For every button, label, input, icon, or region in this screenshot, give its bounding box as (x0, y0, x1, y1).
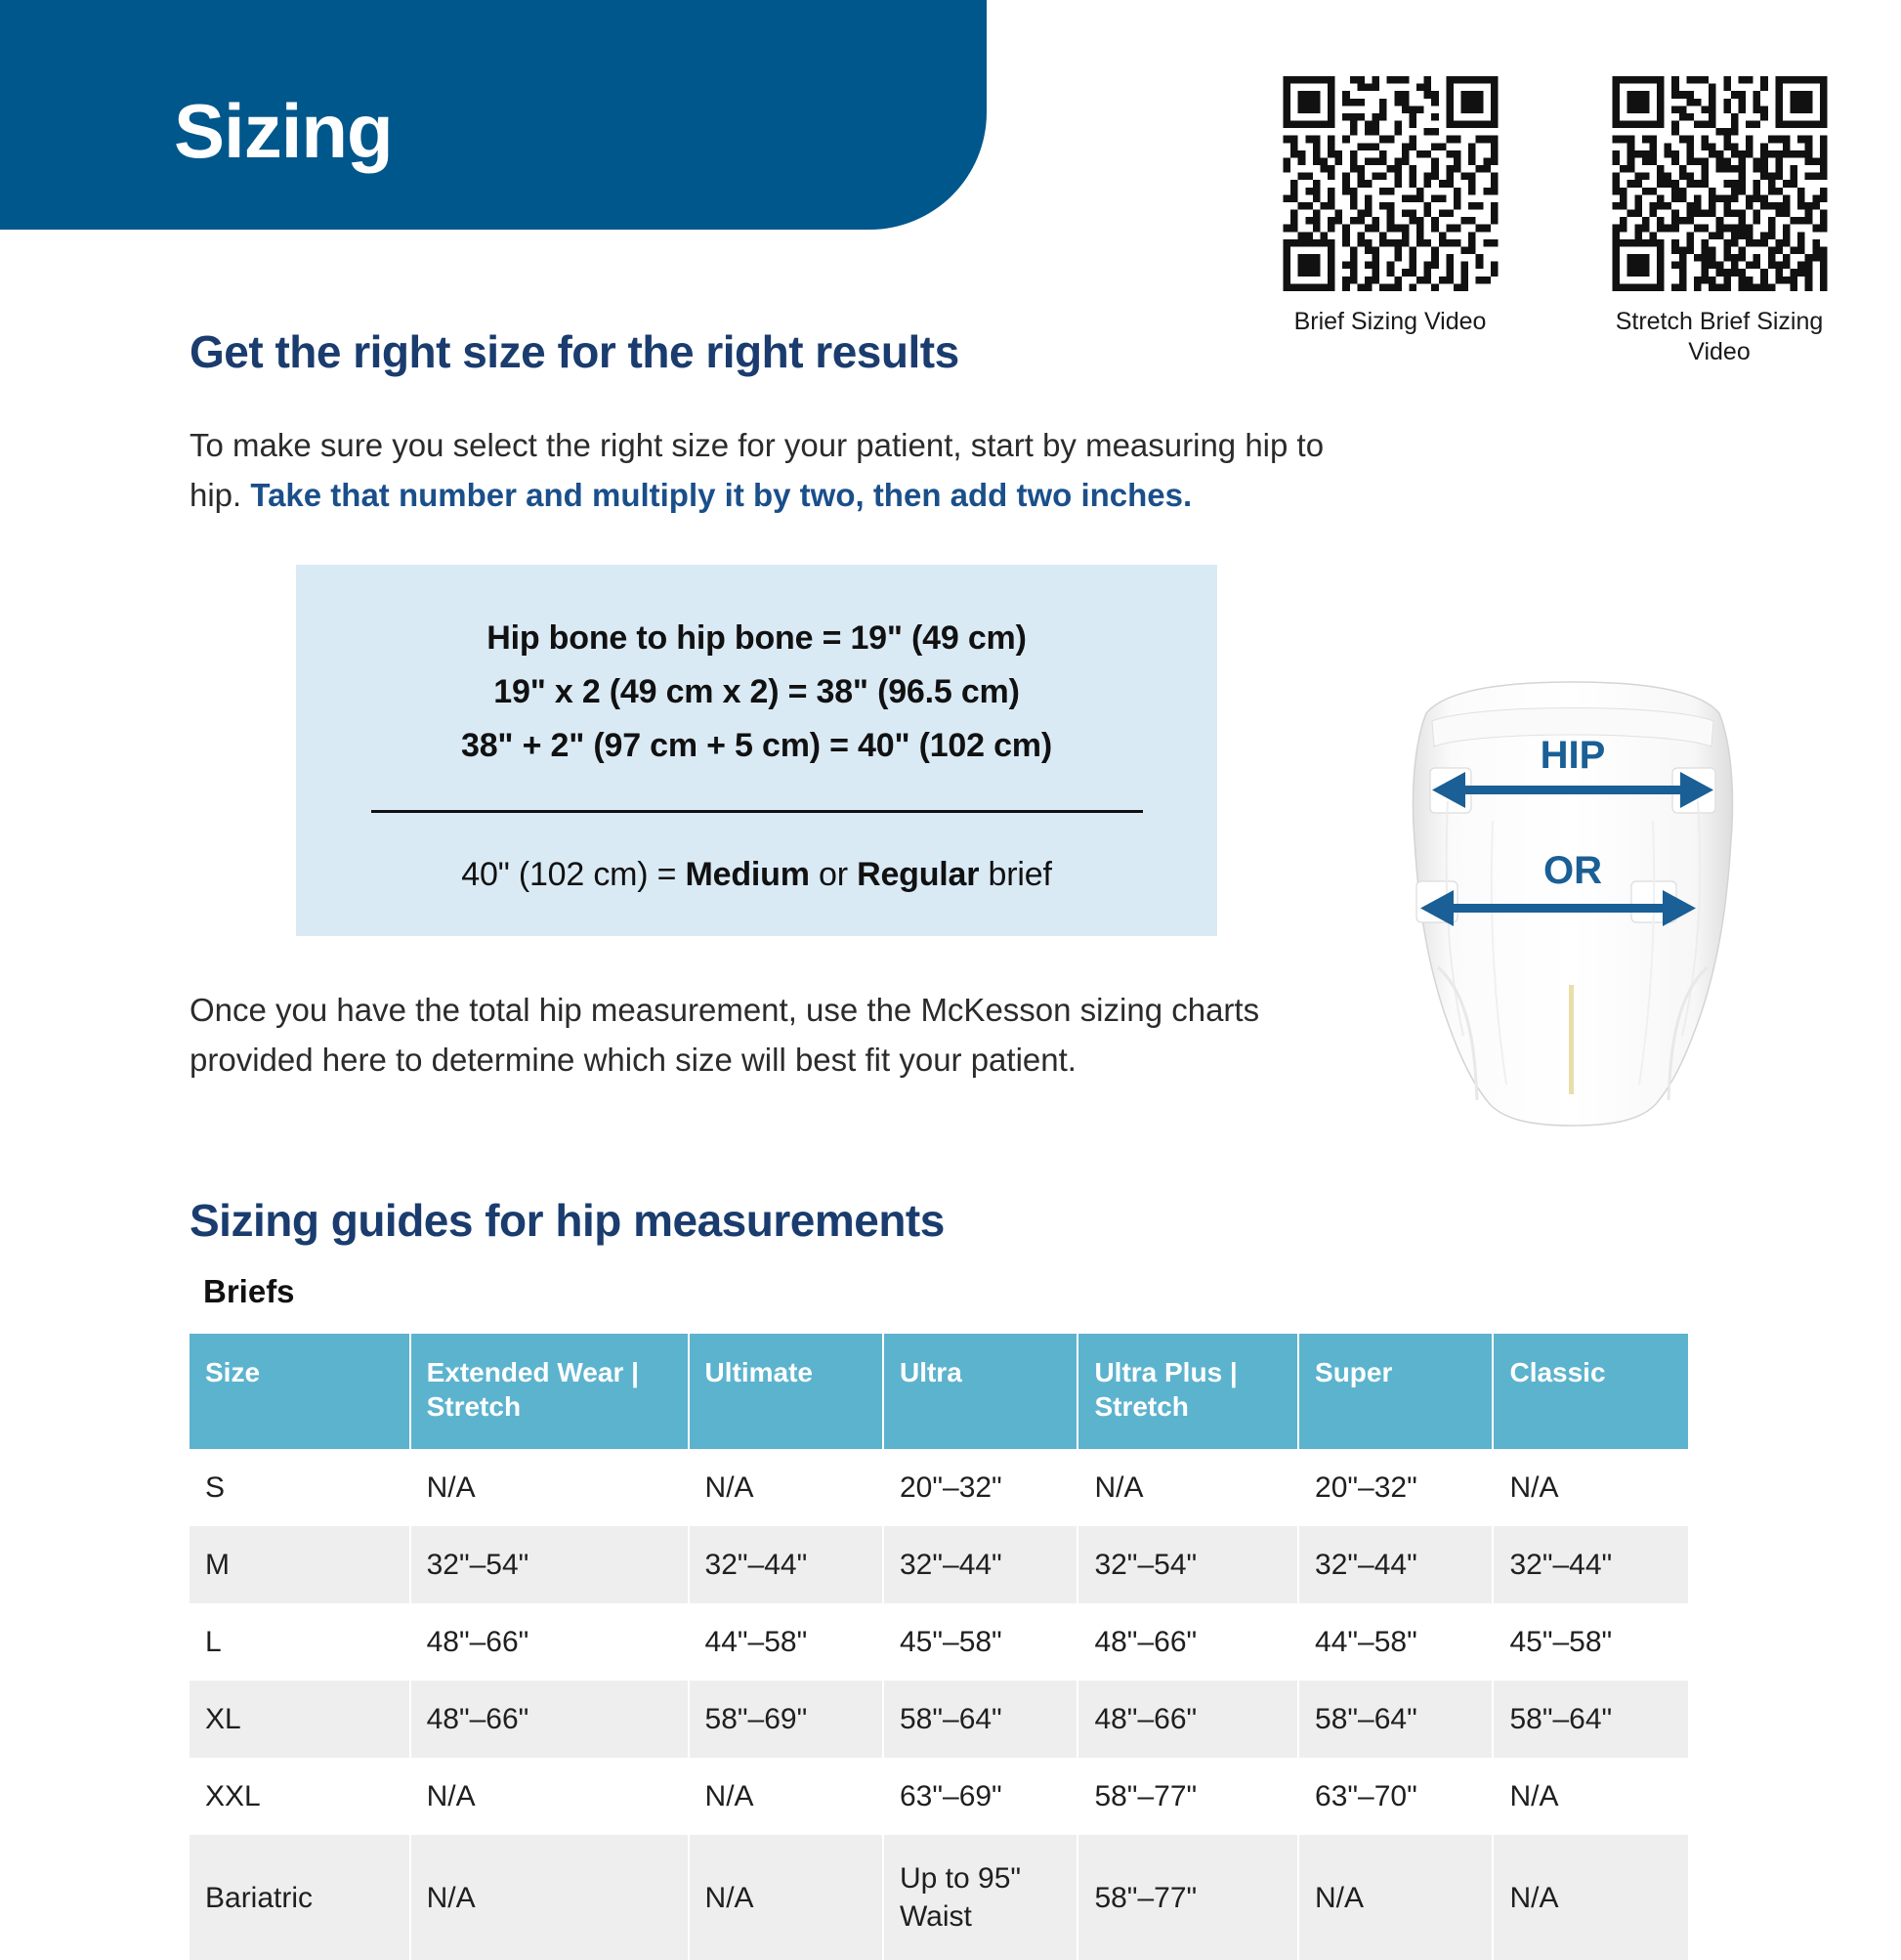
column-header-ultra-plus-stretch: Ultra Plus | Stretch (1077, 1334, 1298, 1449)
table-sub-label-briefs: Briefs (203, 1273, 295, 1310)
calc-result-size-medium: Medium (686, 856, 810, 893)
column-header-ultimate: Ultimate (689, 1334, 883, 1449)
cell-classic: 45"–58" (1493, 1603, 1688, 1681)
cell-super: 44"–58" (1298, 1603, 1493, 1681)
cell-classic: N/A (1493, 1835, 1688, 1960)
cell-ultra-plus-stretch: 58"–77" (1077, 1835, 1298, 1960)
qr-code-icon[interactable] (1271, 76, 1510, 291)
section-heading-sizing-guides: Sizing guides for hip measurements (190, 1194, 945, 1247)
cell-size: L (190, 1603, 410, 1681)
column-header-size: Size (190, 1334, 410, 1449)
cell-ultra: 32"–44" (883, 1526, 1077, 1603)
cell-super: N/A (1298, 1835, 1493, 1960)
cell-ultimate: 44"–58" (689, 1603, 883, 1681)
table-row: L 48"–66" 44"–58" 45"–58" 48"–66" 44"–58… (190, 1603, 1688, 1681)
table-row: Bariatric N/A N/A Up to 95" Waist 58"–77… (190, 1835, 1688, 1960)
cell-extended-wear-stretch: 48"–66" (410, 1681, 689, 1758)
calc-result-size-regular: Regular (857, 856, 979, 893)
cell-classic: 58"–64" (1493, 1681, 1688, 1758)
qr-block-brief-sizing-video[interactable]: Brief Sizing Video (1263, 76, 1517, 337)
calc-line-3: 38" + 2" (97 cm + 5 cm) = 40" (102 cm) (296, 719, 1217, 773)
cell-ultra-plus-stretch: N/A (1077, 1449, 1298, 1526)
cell-size: XL (190, 1681, 410, 1758)
cell-super: 63"–70" (1298, 1758, 1493, 1835)
briefs-sizing-table: Size Extended Wear | Stretch Ultimate Ul… (190, 1334, 1688, 1960)
cell-super: 58"–64" (1298, 1681, 1493, 1758)
cell-ultra: 63"–69" (883, 1758, 1077, 1835)
cell-extended-wear-stretch: 32"–54" (410, 1526, 689, 1603)
calc-result-suffix: brief (979, 856, 1051, 893)
cell-ultimate: N/A (689, 1758, 883, 1835)
cell-extended-wear-stretch: N/A (410, 1449, 689, 1526)
cell-ultra: Up to 95" Waist (883, 1835, 1077, 1960)
cell-ultra-plus-stretch: 48"–66" (1077, 1681, 1298, 1758)
column-header-classic: Classic (1493, 1334, 1688, 1449)
qr-caption: Brief Sizing Video (1263, 307, 1517, 337)
table-body: S N/A N/A 20"–32" N/A 20"–32" N/A M 32"–… (190, 1449, 1688, 1960)
column-header-super: Super (1298, 1334, 1493, 1449)
cell-ultimate: N/A (689, 1835, 883, 1960)
cell-size: S (190, 1449, 410, 1526)
cell-ultra-plus-stretch: 58"–77" (1077, 1758, 1298, 1835)
calc-result-prefix: 40" (102 cm) = (461, 856, 685, 893)
cell-size: M (190, 1526, 410, 1603)
table-row: S N/A N/A 20"–32" N/A 20"–32" N/A (190, 1449, 1688, 1526)
calc-result-line: 40" (102 cm) = Medium or Regular brief (296, 856, 1217, 894)
cell-ultra: 58"–64" (883, 1681, 1077, 1758)
brief-diagram-svg: HIP OR (1387, 674, 1758, 1153)
cell-super: 20"–32" (1298, 1449, 1493, 1526)
cell-classic: N/A (1493, 1758, 1688, 1835)
cell-extended-wear-stretch: 48"–66" (410, 1603, 689, 1681)
table-row: XXL N/A N/A 63"–69" 58"–77" 63"–70" N/A (190, 1758, 1688, 1835)
calculation-example-box: Hip bone to hip bone = 19" (49 cm) 19" x… (296, 565, 1217, 936)
calc-divider (371, 810, 1143, 813)
header-banner: Sizing (0, 0, 987, 230)
section-heading-get-right-size: Get the right size for the right results (190, 325, 959, 378)
table-header-row: Size Extended Wear | Stretch Ultimate Ul… (190, 1334, 1688, 1449)
cell-ultra: 20"–32" (883, 1449, 1077, 1526)
cell-size: Bariatric (190, 1835, 410, 1960)
table-row: XL 48"–66" 58"–69" 58"–64" 48"–66" 58"–6… (190, 1681, 1688, 1758)
adult-brief-illustration: HIP OR (1387, 674, 1758, 1153)
calc-line-2: 19" x 2 (49 cm x 2) = 38" (96.5 cm) (296, 665, 1217, 719)
page-title: Sizing (174, 93, 393, 169)
table-row: M 32"–54" 32"–44" 32"–44" 32"–54" 32"–44… (190, 1526, 1688, 1603)
or-label: OR (1543, 849, 1602, 892)
hip-label: HIP (1541, 734, 1606, 777)
calc-line-1: Hip bone to hip bone = 19" (49 cm) (296, 612, 1217, 665)
cell-extended-wear-stretch: N/A (410, 1835, 689, 1960)
calc-result-conjunction: or (810, 856, 857, 893)
cell-ultra: 45"–58" (883, 1603, 1077, 1681)
cell-ultra-plus-stretch: 48"–66" (1077, 1603, 1298, 1681)
cell-extended-wear-stretch: N/A (410, 1758, 689, 1835)
post-box-paragraph: Once you have the total hip measurement,… (190, 985, 1313, 1085)
cell-ultimate: N/A (689, 1449, 883, 1526)
column-header-extended-wear-stretch: Extended Wear | Stretch (410, 1334, 689, 1449)
cell-ultimate: 32"–44" (689, 1526, 883, 1603)
intro-paragraph-emphasis: Take that number and multiply it by two,… (250, 477, 1192, 513)
cell-ultimate: 58"–69" (689, 1681, 883, 1758)
cell-ultra-plus-stretch: 32"–54" (1077, 1526, 1298, 1603)
qr-block-stretch-brief-sizing-video[interactable]: Stretch Brief Sizing Video (1592, 76, 1846, 368)
qr-code-icon[interactable] (1600, 76, 1839, 291)
cell-size: XXL (190, 1758, 410, 1835)
cell-super: 32"–44" (1298, 1526, 1493, 1603)
table-head: Size Extended Wear | Stretch Ultimate Ul… (190, 1334, 1688, 1449)
cell-classic: N/A (1493, 1449, 1688, 1526)
qr-caption: Stretch Brief Sizing Video (1592, 307, 1846, 368)
cell-classic: 32"–44" (1493, 1526, 1688, 1603)
intro-paragraph: To make sure you select the right size f… (190, 420, 1362, 520)
column-header-ultra: Ultra (883, 1334, 1077, 1449)
sizing-table-wrapper: Size Extended Wear | Stretch Ultimate Ul… (190, 1334, 1688, 1960)
